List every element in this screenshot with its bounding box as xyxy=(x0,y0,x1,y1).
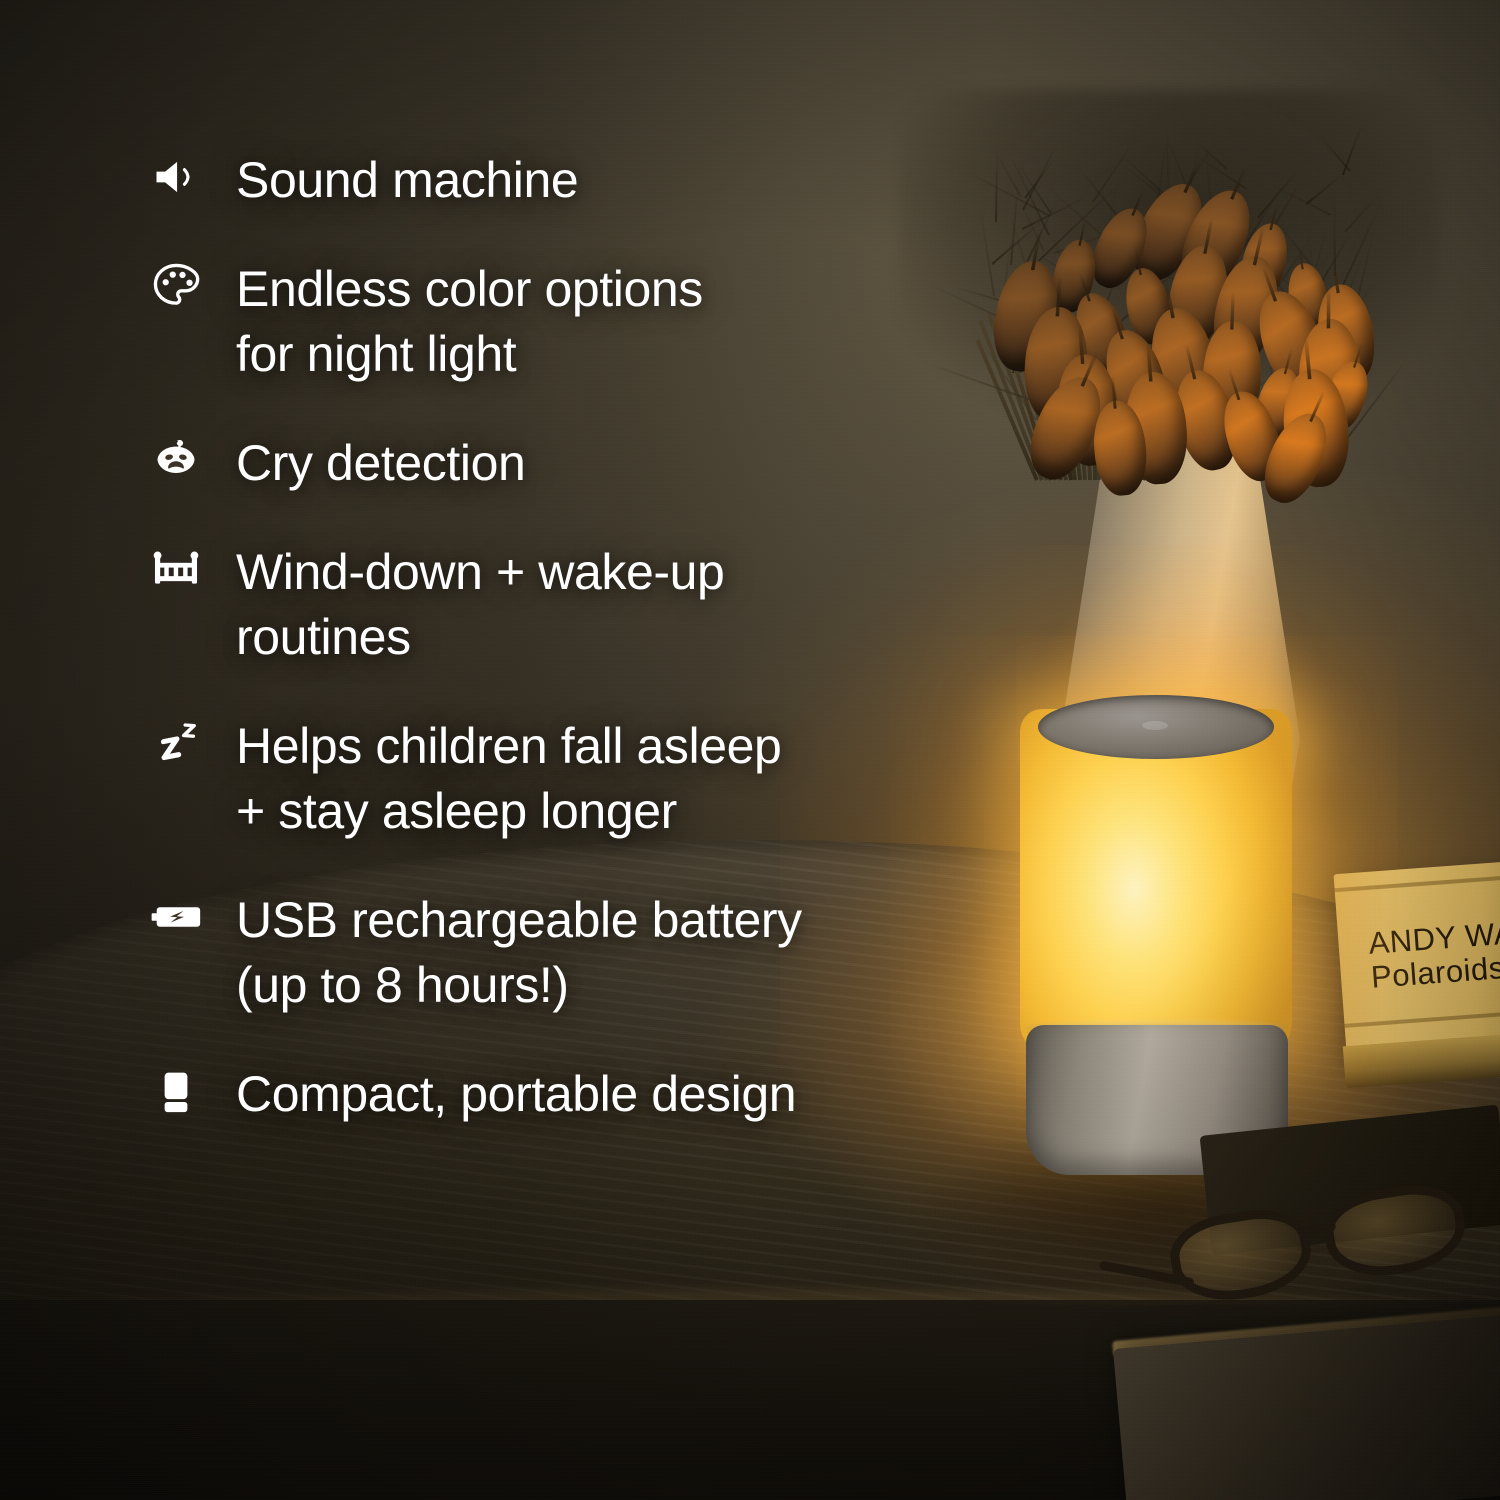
eyeglass-lens-left xyxy=(1165,1202,1317,1309)
sleep-zzz-icon xyxy=(150,714,202,772)
feature-item-battery: USB rechargeable battery (up to 8 hours!… xyxy=(150,888,970,1018)
art-book: ANDY WAR Polaroids 1 xyxy=(1333,858,1500,1060)
night-light-lamp xyxy=(1010,695,1302,1180)
portable-device-icon xyxy=(150,1062,202,1120)
crib-icon xyxy=(150,540,202,598)
flower-frond xyxy=(995,150,998,222)
color-palette-icon xyxy=(150,257,202,315)
product-feature-card: ANDY WAR Polaroids 1 xyxy=(0,0,1500,1500)
flower-frond xyxy=(1305,175,1342,206)
feature-item-sound-machine: Sound machine xyxy=(150,148,970,213)
crying-baby-face-icon xyxy=(150,431,202,489)
eyeglass-lens-right xyxy=(1319,1178,1471,1285)
feature-item-portable: Compact, portable design xyxy=(150,1062,970,1127)
feature-item-routines: Wind-down + wake-up routines xyxy=(150,540,970,670)
feature-label: Cry detection xyxy=(236,431,525,496)
feature-item-sleep: Helps children fall asleep + stay asleep… xyxy=(150,714,970,844)
feature-item-cry-detection: Cry detection xyxy=(150,431,970,496)
feature-label: Helps children fall asleep + stay asleep… xyxy=(236,714,781,844)
feature-label: USB rechargeable battery (up to 8 hours!… xyxy=(236,888,802,1018)
flower-frond xyxy=(1343,124,1364,175)
flower-frond xyxy=(978,204,994,296)
feature-label: Wind-down + wake-up routines xyxy=(236,540,724,670)
lamp-speaker-top xyxy=(1038,695,1274,759)
battery-charging-icon xyxy=(150,888,202,946)
feature-label: Sound machine xyxy=(236,148,578,213)
feature-item-color-options: Endless color options for night light xyxy=(150,257,970,387)
flower-frond xyxy=(1019,201,1045,251)
speaker-volume-icon xyxy=(150,148,202,206)
lamp-shade xyxy=(1020,709,1292,1054)
feature-label: Endless color options for night light xyxy=(236,257,703,387)
feature-list: Sound machine Endless color options for … xyxy=(150,148,970,1127)
feature-label: Compact, portable design xyxy=(236,1062,796,1127)
